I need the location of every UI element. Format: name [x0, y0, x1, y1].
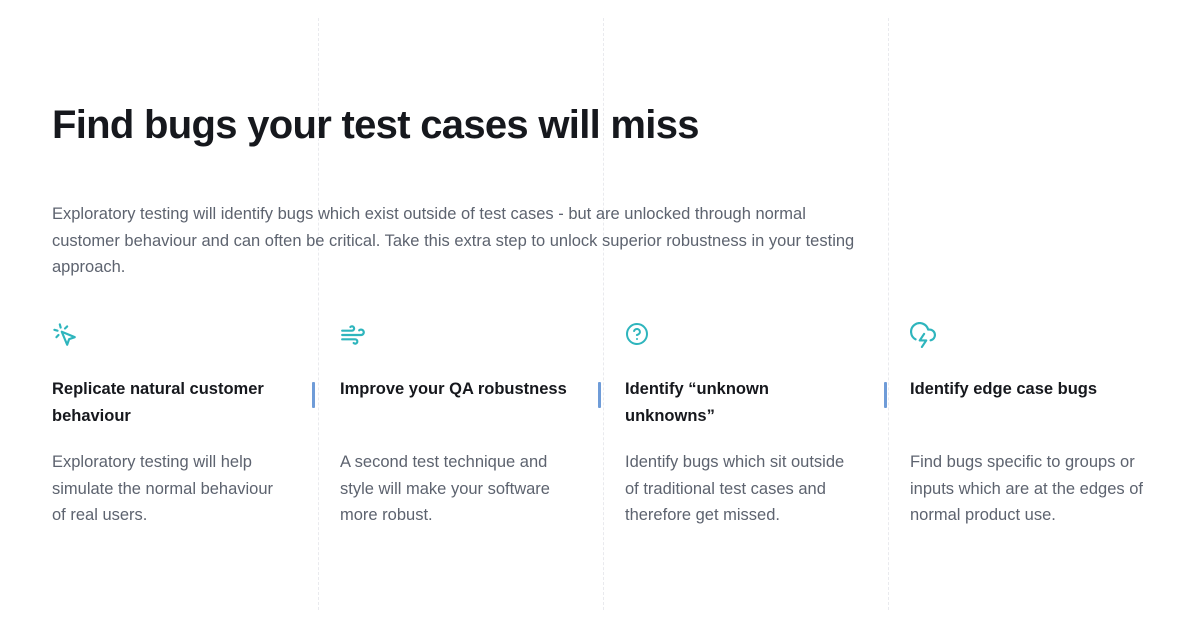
- cloud-lightning-icon: [910, 322, 1143, 356]
- feature-body-3: Identify bugs which sit outside of tradi…: [625, 449, 858, 529]
- feature-heading-1: Replicate natural customer behaviour: [52, 376, 288, 429]
- dashed-grid-lines: [0, 0, 1200, 630]
- feature-section: Find bugs your test cases will miss Expl…: [0, 0, 1200, 630]
- mouse-pointer-click-icon: [52, 322, 288, 356]
- intro-paragraph: Exploratory testing will identify bugs w…: [52, 201, 862, 281]
- feature-column-1: Replicate natural customer behaviour Exp…: [0, 322, 318, 529]
- feature-body-2: A second test technique and style will m…: [340, 449, 573, 529]
- feature-heading-4: Identify edge case bugs: [910, 376, 1143, 429]
- feature-body-1: Exploratory testing will help simulate t…: [52, 449, 288, 529]
- feature-heading-3: Identify “unknown unknowns”: [625, 376, 858, 429]
- wind-icon: [340, 322, 573, 356]
- accent-bar-1: [312, 382, 315, 408]
- feature-heading-2: Improve your QA robustness: [340, 376, 573, 429]
- feature-column-3: Identify “unknown unknowns” Identify bug…: [603, 322, 888, 529]
- accent-bar-3: [884, 382, 887, 408]
- feature-column-4: Identify edge case bugs Find bugs specif…: [888, 322, 1173, 529]
- help-circle-icon: [625, 322, 858, 356]
- accent-bar-2: [598, 382, 601, 408]
- feature-columns: Replicate natural customer behaviour Exp…: [0, 322, 1200, 529]
- page-title: Find bugs your test cases will miss: [52, 100, 699, 150]
- feature-body-4: Find bugs specific to groups or inputs w…: [910, 449, 1143, 529]
- feature-column-2: Improve your QA robustness A second test…: [318, 322, 603, 529]
